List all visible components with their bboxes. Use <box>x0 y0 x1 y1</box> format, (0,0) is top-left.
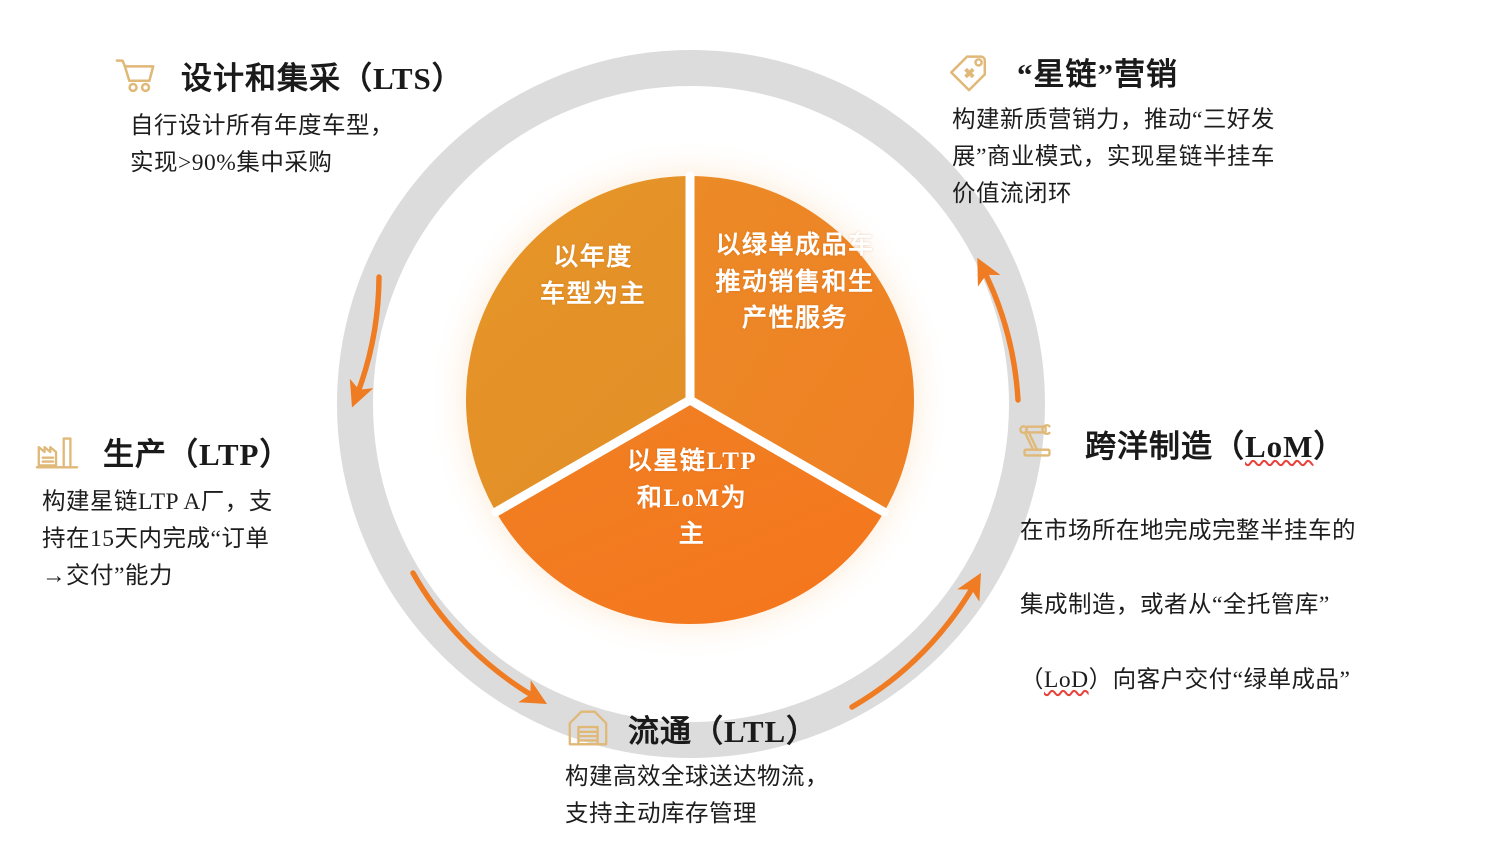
callout-marketing-title: “星链”营销 <box>1017 49 1178 94</box>
warehouse-icon <box>565 705 611 751</box>
price-tag-icon <box>946 48 992 94</box>
callout-ltl-header: 流通（LTL） <box>565 705 965 751</box>
callout-lom-header: 跨洋制造（LoM） <box>1014 420 1494 466</box>
callout-lom-line3-suffix: ）向客户交付“绿单成品” <box>1089 667 1351 693</box>
robot-arm-icon <box>1014 420 1060 466</box>
callout-lom-title: 跨洋制造（LoM） <box>1085 421 1345 466</box>
callout-ltl-body: 构建高效全球送达物流， 支持主动库存管理 <box>565 759 965 833</box>
callout-lts-title: 设计和集采（LTS） <box>181 53 464 98</box>
callout-ltp-header: 生产（LTP） <box>34 428 364 474</box>
callout-ltp-title: 生产（LTP） <box>103 429 291 474</box>
callout-lom-title-prefix: 跨洋制造（ <box>1085 429 1245 464</box>
callout-lom-title-suffix: ） <box>1313 429 1345 464</box>
callout-marketing-body: 构建新质营销力，推动“三好发 展”商业模式，实现星链半挂车 价值流闭环 <box>946 102 1416 213</box>
callout-lom-body: 在市场所在地完成完整半挂车的 集成制造，或者从“全托管库” （LoD）向客户交付… <box>1014 476 1494 736</box>
diagram-canvas: 以年度 车型为主 以绿单成品车 推动销售和生 产性服务 以星链LTP 和LoM为… <box>0 0 1500 861</box>
factory-icon <box>34 428 80 474</box>
callout-ltl-title: 流通（LTL） <box>628 706 818 751</box>
callout-lom-line3-prefix: （ <box>1020 667 1044 693</box>
callout-lom-line3-misspelled: LoD <box>1044 667 1089 693</box>
callout-lom-title-misspelled: LoM <box>1245 429 1313 464</box>
callout-lts-body: 自行设计所有年度车型， 实现>90%集中采购 <box>112 108 522 182</box>
callout-marketing-header: “星链”营销 <box>946 48 1416 94</box>
callout-lom-body-line1: 在市场所在地完成完整半挂车的 <box>1020 513 1494 550</box>
callout-lom-body-line2: 集成制造，或者从“全托管库” <box>1020 587 1494 624</box>
callout-ltl[interactable]: 流通（LTL） 构建高效全球送达物流， 支持主动库存管理 <box>565 705 965 833</box>
callout-ltp[interactable]: 生产（LTP） 构建星链LTP A厂，支 持在15天内完成“订单 →交付”能力 <box>34 428 364 595</box>
callout-lom[interactable]: 跨洋制造（LoM） 在市场所在地完成完整半挂车的 集成制造，或者从“全托管库” … <box>1014 420 1494 736</box>
callout-ltp-body: 构建星链LTP A厂，支 持在15天内完成“订单 →交付”能力 <box>34 484 364 595</box>
callout-marketing[interactable]: “星链”营销 构建新质营销力，推动“三好发 展”商业模式，实现星链半挂车 价值流… <box>946 48 1416 213</box>
callout-lom-body-line3: （LoD）向客户交付“绿单成品” <box>1020 662 1494 699</box>
callout-lts-header: 设计和集采（LTS） <box>112 52 522 98</box>
callout-lts[interactable]: 设计和集采（LTS） 自行设计所有年度车型， 实现>90%集中采购 <box>112 52 522 182</box>
shopping-cart-icon <box>112 52 158 98</box>
